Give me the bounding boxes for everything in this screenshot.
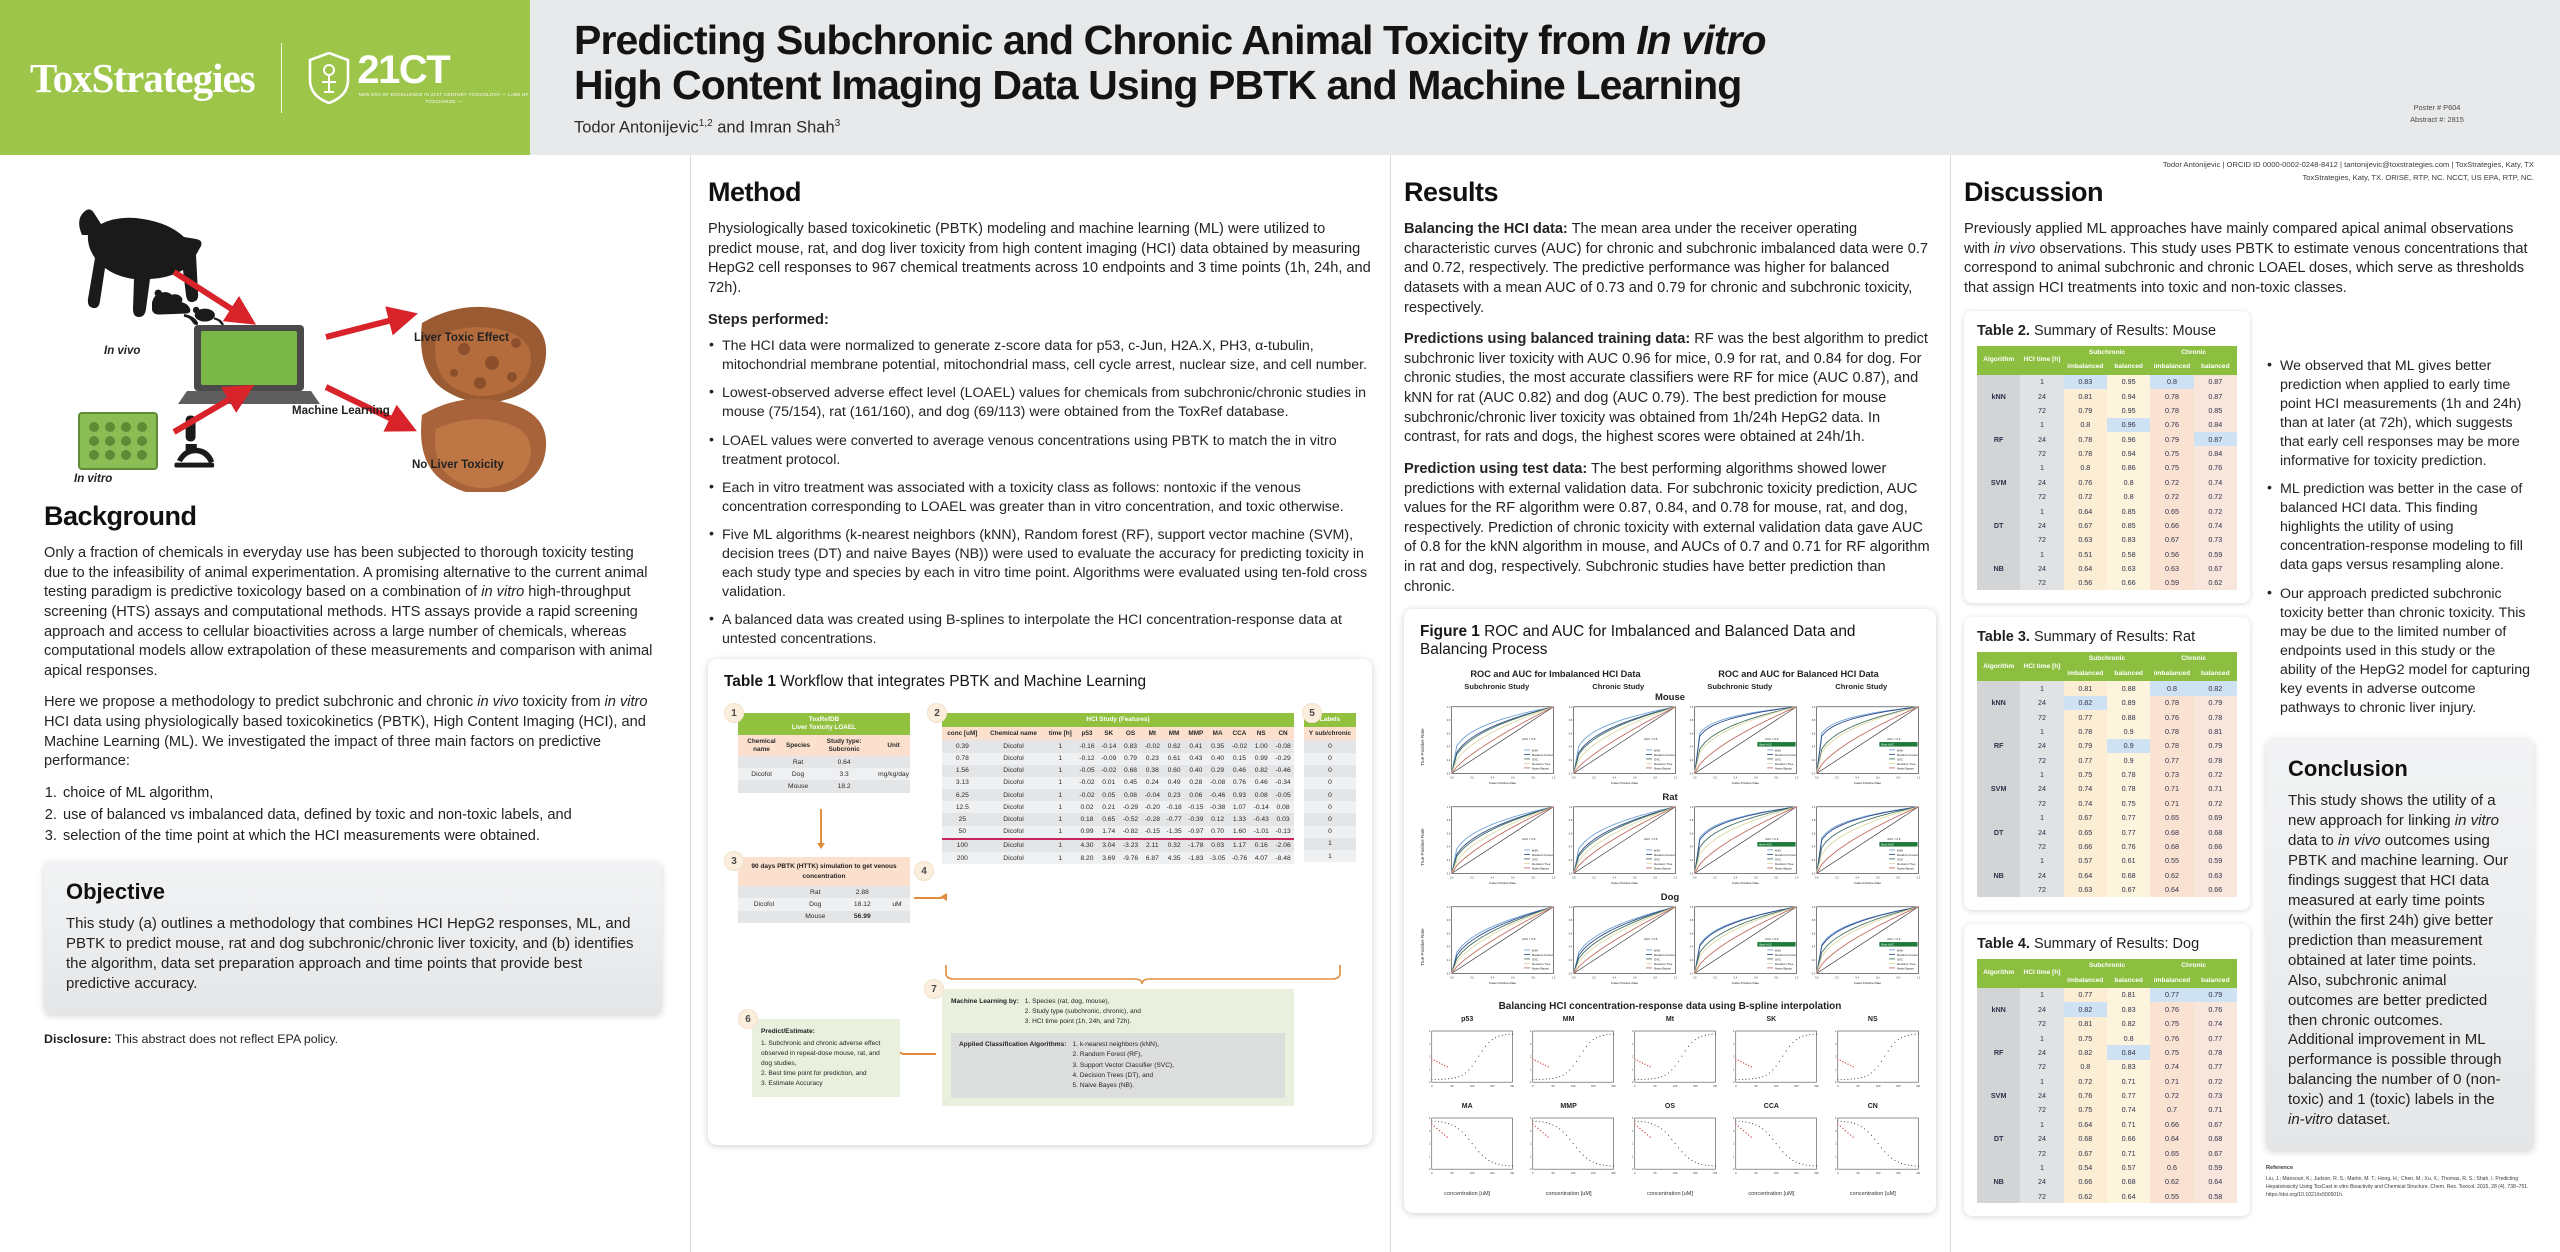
table-row: Rat0.64	[738, 756, 910, 768]
value-cell: 0.84	[2194, 446, 2237, 460]
value-cell: 0.79	[2194, 988, 2237, 1002]
results-label-2: Predictions using balanced training data…	[1404, 331, 1690, 347]
svg-text:0.0: 0.0	[1814, 777, 1818, 780]
cell: -2.06	[1272, 839, 1294, 852]
value-cell: 0.62	[2150, 868, 2193, 882]
col-header: MA	[1207, 727, 1229, 740]
list-item: selection of the time point at which the…	[61, 827, 662, 847]
cell: 0.64	[811, 756, 877, 768]
col-header: Mt	[1141, 727, 1163, 740]
hci-features-table: HCI Study (Features) conc [uM]Chemical n…	[942, 713, 1294, 864]
value-cell: 0.77	[2194, 1031, 2237, 1045]
value-cell: 0.66	[2150, 1117, 2193, 1131]
svg-text:0.6: 0.6	[1754, 777, 1758, 780]
timepoint-cell: 72	[2020, 710, 2063, 724]
predict-green-box: Predict/Estimate: 1. Subchronic and chro…	[752, 1019, 900, 1096]
spline-panel-label: MM	[1521, 1016, 1615, 1023]
svg-text:1.0: 1.0	[1673, 877, 1677, 880]
table-row: 0	[1304, 813, 1356, 825]
svg-text:1.0: 1.0	[1811, 706, 1815, 709]
cell: -0.18	[1163, 801, 1185, 813]
cell: 0	[1304, 813, 1356, 825]
svg-text:Naive Bayes: Naive Bayes	[1897, 767, 1914, 771]
spline-panel: MA05010015020001234concentration [uM]	[1420, 1103, 1514, 1197]
value-cell: 0.59	[2194, 854, 2237, 868]
col-header: Chronic Study	[1803, 682, 1921, 691]
value-cell: 0.81	[2064, 389, 2107, 403]
svg-text:0: 0	[1429, 1081, 1431, 1084]
svg-text:AUC = 0.9: AUC = 0.9	[1765, 737, 1779, 741]
svg-text:0.4: 0.4	[1568, 746, 1572, 749]
table-row: 12.5Dicofol10.020.21-0.29-0.20-0.18-0.15…	[942, 801, 1294, 813]
value-cell: 0.71	[2194, 782, 2237, 796]
column-divider	[1950, 155, 1951, 1252]
value-cell: 0.76	[2194, 1002, 2237, 1016]
svg-text:0.6: 0.6	[1811, 733, 1815, 736]
results-table: AlgorithmHCI time [h]SubchronicChronicim…	[1977, 346, 2237, 591]
timepoint-cell: 1	[2020, 1031, 2063, 1045]
timepoint-cell: 72	[2020, 446, 2063, 460]
cell: -3.23	[1120, 839, 1142, 852]
svg-text:3: 3	[1835, 1130, 1837, 1133]
roc-plot: kNNRandom ForestSVCDecision TreeNaive Ba…	[1438, 904, 1556, 991]
svg-text:4: 4	[1632, 1030, 1634, 1033]
col-header: HCI time [h]	[2020, 959, 2063, 988]
svg-text:100: 100	[1876, 1084, 1881, 1088]
svg-text:False Positive Rate: False Positive Rate	[1489, 981, 1516, 985]
predict-title: Predict/Estimate:	[761, 1028, 815, 1035]
svg-text:2: 2	[1632, 1143, 1634, 1146]
value-cell: 0.76	[2150, 418, 2193, 432]
cell: Dicofol	[983, 777, 1045, 789]
spline-panel-label: CCA	[1724, 1103, 1818, 1110]
svg-text:0.6: 0.6	[1690, 833, 1694, 836]
discussion-body: Table 2. Summary of Results: MouseAlgori…	[1964, 311, 2534, 1231]
cell: 0.43	[1185, 753, 1207, 765]
value-cell: 0.81	[2107, 988, 2150, 1002]
col-header: HCI time [h]	[2020, 346, 2063, 375]
svg-text:False Positive Rate: False Positive Rate	[1611, 781, 1638, 785]
timepoint-cell: 24	[2020, 1002, 2063, 1016]
svg-text:0.2: 0.2	[1835, 877, 1839, 880]
svg-text:0.0: 0.0	[1811, 773, 1815, 776]
cell: 1	[1044, 777, 1076, 789]
value-cell: 0.55	[2150, 1189, 2193, 1203]
algorithm-cell: kNN	[1977, 375, 2020, 418]
svg-text:0.4: 0.4	[1734, 877, 1738, 880]
svg-text:0: 0	[1431, 1171, 1433, 1175]
svg-text:0.8: 0.8	[1653, 777, 1657, 780]
21ct-logo: 21CT NEW ERA OF EXCELLENCE IN 21ST CENTU…	[308, 50, 530, 105]
svg-text:150: 150	[1693, 1084, 1698, 1088]
value-cell: 0.78	[2150, 389, 2193, 403]
svg-text:Decision Tree: Decision Tree	[1654, 862, 1673, 866]
cell: 1	[1304, 850, 1356, 862]
concl-d: dataset.	[2333, 1111, 2391, 1128]
table-row: 0	[1304, 753, 1356, 765]
svg-text:0.6: 0.6	[1876, 777, 1880, 780]
value-cell: 0.75	[2064, 1103, 2107, 1117]
svg-text:1.0: 1.0	[1916, 777, 1920, 780]
svg-text:AUC = 0.9: AUC = 0.9	[1887, 737, 1901, 741]
value-cell: 0.77	[2194, 1060, 2237, 1074]
author-2-sup: 3	[835, 118, 841, 129]
author-1-sup: 1,2	[699, 118, 713, 129]
value-cell: 0.59	[2194, 547, 2237, 561]
svg-text:0.8: 0.8	[1653, 977, 1657, 980]
svg-text:1.0: 1.0	[1568, 806, 1572, 809]
svg-text:0.4: 0.4	[1447, 846, 1451, 849]
timepoint-cell: 1	[2020, 1160, 2063, 1174]
value-cell: 0.64	[2064, 1117, 2107, 1131]
algorithm-cell: RF	[1977, 1031, 2020, 1074]
cell: -0.77	[1163, 813, 1185, 825]
svg-text:False Positive Rate: False Positive Rate	[1732, 981, 1759, 985]
svg-text:100: 100	[1571, 1084, 1576, 1088]
pbtk-label: 90 days PBTK (HTTK) simulation to get ve…	[738, 857, 910, 886]
value-cell: 0.62	[2064, 1189, 2107, 1203]
algorithm-cell: NB	[1977, 1160, 2020, 1203]
svg-text:0.0: 0.0	[1811, 873, 1815, 876]
roc-plot: kNNRandom ForestSVCDecision TreeNaive Ba…	[1681, 804, 1799, 891]
svg-text:0.4: 0.4	[1690, 946, 1694, 949]
cell	[738, 756, 785, 768]
table-row: RF10.750.80.760.77	[1977, 1031, 2237, 1045]
svg-text:200: 200	[1814, 1171, 1818, 1175]
spline-panel: CN05010015020001234concentration [uM]	[1826, 1103, 1920, 1197]
algorithm-cell: DT	[1977, 504, 2020, 547]
cell: 0.93	[1229, 789, 1251, 801]
cell: -0.08	[1272, 740, 1294, 752]
value-cell: 0.81	[2064, 1017, 2107, 1031]
table-row: Mouse18.2	[738, 780, 910, 792]
step-badge-7: 7	[924, 979, 944, 999]
timepoint-cell: 1	[2020, 724, 2063, 738]
arrow-right-icon	[940, 893, 947, 901]
ml-item: 1. Species (rat, dog, mouse),	[1025, 997, 1141, 1007]
value-cell: 0.65	[2150, 811, 2193, 825]
value-cell: 0.8	[2107, 475, 2150, 489]
cell: 0.23	[1141, 753, 1163, 765]
table-row: DT10.640.850.650.72	[1977, 504, 2237, 518]
cell: 0.08	[1272, 801, 1294, 813]
value-cell: 0.74	[2107, 1103, 2150, 1117]
cell: 0.05	[1098, 789, 1120, 801]
value-cell: 0.76	[2150, 1002, 2193, 1016]
value-cell: 0.64	[2194, 1175, 2237, 1189]
value-cell: 0.72	[2194, 504, 2237, 518]
value-cell: 0.79	[2194, 696, 2237, 710]
cell: 0.18	[1076, 813, 1098, 825]
predict-box: Predict/Estimate: 1. Subchronic and chro…	[752, 1019, 900, 1096]
col-header: Algorithm	[1977, 346, 2020, 375]
svg-text:3: 3	[1429, 1130, 1431, 1133]
x-axis-label: concentration [uM]	[1623, 1191, 1717, 1197]
value-cell: 0.58	[2194, 1189, 2237, 1203]
svg-text:200: 200	[1612, 1084, 1616, 1088]
svg-text:0.0: 0.0	[1450, 777, 1454, 780]
value-cell: 0.74	[2194, 518, 2237, 532]
col-header: Subchronic Study	[1438, 682, 1556, 691]
cell: 0.46	[1229, 765, 1251, 777]
cell: -0.14	[1098, 740, 1120, 752]
list-item: use of balanced vs imbalanced data, defi…	[61, 806, 662, 826]
table-row: 0	[1304, 789, 1356, 801]
col-header: balanced	[2194, 360, 2237, 375]
title-line2: High Content Imaging Data Using PBTK and…	[574, 62, 1741, 108]
svg-text:0.4: 0.4	[1491, 877, 1495, 880]
value-cell: 0.89	[2107, 696, 2150, 710]
list-item: Lowest-observed adverse effect level (LO…	[708, 384, 1372, 422]
value-cell: 0.77	[2064, 988, 2107, 1002]
svg-text:kNN: kNN	[1897, 849, 1903, 853]
column-divider	[690, 155, 691, 1252]
svg-text:Naive Bayes: Naive Bayes	[1775, 867, 1792, 871]
bg-p1-em: in vitro	[481, 584, 524, 600]
svg-text:0.2: 0.2	[1568, 959, 1572, 962]
svg-text:Random Forest: Random Forest	[1532, 853, 1553, 857]
svg-text:2: 2	[1835, 1143, 1837, 1146]
result-table-title: Table 4. Summary of Results: Dog	[1977, 936, 2237, 952]
svg-text:4: 4	[1530, 1117, 1532, 1120]
results-table: AlgorithmHCI time [h]SubchronicChronicim…	[1977, 652, 2237, 897]
value-cell: 0.66	[2107, 576, 2150, 590]
svg-text:kNN: kNN	[1532, 849, 1538, 853]
label-liver-toxic: Liver Toxic Effect	[414, 332, 509, 344]
roc-plot: kNNRandom ForestSVCDecision TreeNaive Ba…	[1560, 704, 1678, 791]
cell: 1	[1304, 838, 1356, 850]
value-cell: 0.7	[2150, 1103, 2193, 1117]
value-cell: 0.55	[2150, 854, 2193, 868]
species-label: Rat	[1420, 792, 1920, 803]
svg-text:0.0: 0.0	[1693, 977, 1697, 980]
value-cell: 0.78	[2150, 696, 2193, 710]
table-row: NB10.540.570.60.59	[1977, 1160, 2237, 1174]
svg-text:0.8: 0.8	[1568, 919, 1572, 922]
value-cell: 0.77	[2150, 988, 2193, 1002]
cell: 1	[1044, 753, 1076, 765]
svg-text:0.4: 0.4	[1612, 877, 1616, 880]
poster-number: Poster # P604	[2342, 102, 2532, 114]
svg-text:0: 0	[1530, 1168, 1532, 1171]
cell: Mouse	[790, 911, 841, 923]
list-item: We observed that ML gives better predict…	[2266, 357, 2534, 472]
svg-text:0.8: 0.8	[1774, 977, 1778, 980]
value-cell: 0.85	[2107, 504, 2150, 518]
svg-text:0.6: 0.6	[1633, 877, 1637, 880]
svg-text:1.0: 1.0	[1690, 706, 1694, 709]
svg-text:0.6: 0.6	[1511, 777, 1515, 780]
timepoint-cell: 72	[2020, 839, 2063, 853]
svg-text:100: 100	[1673, 1084, 1678, 1088]
value-cell: 0.63	[2064, 882, 2107, 896]
value-cell: 0.64	[2064, 504, 2107, 518]
result-table-title: Table 2. Summary of Results: Mouse	[1977, 323, 2237, 339]
col-header: MM	[1163, 727, 1185, 740]
21ct-text: 21CT	[357, 50, 530, 90]
value-cell: 0.72	[2064, 490, 2107, 504]
value-cell: 0.74	[2194, 475, 2237, 489]
roc-plot: kNNRandom ForestSVCDecision TreeNaive Ba…	[1438, 704, 1556, 791]
svg-text:0.2: 0.2	[1811, 759, 1815, 762]
svg-text:200: 200	[1612, 1171, 1616, 1175]
microplate-icon	[79, 413, 157, 469]
timepoint-cell: 1	[2020, 811, 2063, 825]
table-row: DicofolDog18.12uM	[738, 898, 910, 910]
predict-item: 3. Estimate Accuracy	[761, 1079, 891, 1089]
svg-text:AUC = 0.9: AUC = 0.9	[1765, 937, 1779, 941]
cell: Dicofol	[983, 839, 1045, 852]
poster-columns: In vivo Machine Learning In vitro Liver …	[0, 155, 2560, 1252]
column-results: Results Balancing the HCI data: The mean…	[1390, 155, 1950, 1252]
svg-text:3: 3	[1733, 1043, 1735, 1046]
cell: 0.21	[1098, 801, 1120, 813]
value-cell: 0.75	[2064, 1031, 2107, 1045]
cell: 1.56	[942, 765, 983, 777]
value-cell: 0.83	[2107, 1060, 2150, 1074]
roc-plot-grid: MouseTrue Positive RatekNNRandom ForestS…	[1420, 692, 1920, 991]
value-cell: 0.95	[2107, 403, 2150, 417]
cell: -8.48	[1272, 852, 1294, 864]
value-cell: 0.68	[2107, 868, 2150, 882]
col-header: HCI time [h]	[2020, 652, 2063, 681]
cell: -0.09	[1098, 753, 1120, 765]
col-header: Unit	[877, 735, 910, 756]
svg-text:kNN: kNN	[1532, 749, 1538, 753]
svg-text:1.0: 1.0	[1795, 877, 1799, 880]
cell: 50	[942, 826, 983, 839]
svg-text:100: 100	[1774, 1084, 1779, 1088]
value-cell: 0.68	[2107, 1175, 2150, 1189]
x-axis-label: concentration [uM]	[1521, 1191, 1615, 1197]
cell: 1	[1044, 789, 1076, 801]
algorithm-cell: SVM	[1977, 767, 2020, 810]
svg-text:0.0: 0.0	[1571, 877, 1575, 880]
cell: 3.13	[942, 777, 983, 789]
column-discussion: Discussion Previously applied ML approac…	[1950, 155, 2560, 1252]
svg-text:0.4: 0.4	[1855, 777, 1859, 780]
col-header: balanced	[2107, 360, 2150, 375]
value-cell: 0.68	[2150, 825, 2193, 839]
svg-text:Best AUC: Best AUC	[1881, 843, 1894, 847]
svg-text:0.2: 0.2	[1690, 859, 1694, 862]
svg-text:1.0: 1.0	[1916, 977, 1920, 980]
dog-silhouette	[79, 209, 201, 317]
svg-text:AUC = 0.9: AUC = 0.9	[1887, 837, 1901, 841]
svg-text:50: 50	[1552, 1171, 1555, 1175]
roc-row: True Positive RatekNNRandom ForestSVCDec…	[1420, 704, 1920, 791]
col-header: imbalanced	[2064, 360, 2107, 375]
cell: 0.08	[1250, 789, 1272, 801]
timepoint-cell: 1	[2020, 418, 2063, 432]
value-cell: 0.63	[2194, 868, 2237, 882]
table-row: DT10.640.710.660.67	[1977, 1117, 2237, 1131]
cell: 0	[1304, 765, 1356, 777]
value-cell: 0.87	[2194, 389, 2237, 403]
cell	[884, 886, 910, 898]
spline-panel-label: p53	[1420, 1016, 1514, 1023]
timepoint-cell: 24	[2020, 782, 2063, 796]
svg-text:0.6: 0.6	[1568, 833, 1572, 836]
roc-col-headers: Subchronic Study Chronic Study Subchroni…	[1420, 682, 1920, 691]
cell	[738, 886, 790, 898]
cell: Dog	[790, 898, 841, 910]
logo-divider	[281, 43, 283, 113]
table-row: 0	[1304, 826, 1356, 838]
timepoint-cell: 24	[2020, 1132, 2063, 1146]
cell: -0.39	[1185, 813, 1207, 825]
timepoint-cell: 1	[2020, 375, 2063, 389]
cell: -0.76	[1229, 852, 1251, 864]
svg-text:0.8: 0.8	[1447, 819, 1451, 822]
svg-text:0.6: 0.6	[1811, 933, 1815, 936]
value-cell: 0.71	[2150, 796, 2193, 810]
svg-text:SVC: SVC	[1654, 858, 1661, 862]
table-row: 0.78Dicofol1-0.12-0.090.790.230.610.430.…	[942, 753, 1294, 765]
ml-green-box: Machine Learning by: 1. Species (rat, do…	[942, 989, 1294, 1106]
cell: 1	[1044, 801, 1076, 813]
value-cell: 0.57	[2064, 854, 2107, 868]
timepoint-cell: 24	[2020, 868, 2063, 882]
svg-text:0: 0	[1431, 1084, 1433, 1088]
cell: 0.08	[1120, 789, 1142, 801]
svg-text:Decision Tree: Decision Tree	[1654, 762, 1673, 766]
concl-em2: in vivo	[2338, 832, 2381, 849]
col-header: balanced	[2107, 667, 2150, 682]
step-badge-4: 4	[914, 861, 934, 881]
svg-text:3: 3	[1429, 1043, 1431, 1046]
svg-text:1: 1	[1835, 1156, 1837, 1159]
svg-text:0.6: 0.6	[1511, 877, 1515, 880]
label-in-vitro: In vitro	[74, 473, 112, 485]
value-cell: 0.61	[2107, 854, 2150, 868]
svg-text:4: 4	[1429, 1117, 1431, 1120]
bg-p2-em2: in vitro	[605, 694, 648, 710]
svg-text:0.2: 0.2	[1835, 977, 1839, 980]
cell: 0.61	[1163, 753, 1185, 765]
results-label-3: Prediction using test data:	[1404, 461, 1587, 477]
cell: -0.16	[1076, 740, 1098, 752]
svg-text:100: 100	[1470, 1084, 1475, 1088]
list-item: The HCI data were normalized to generate…	[708, 337, 1372, 375]
cell: 1	[1044, 852, 1076, 864]
discussion-bullets: We observed that ML gives better predict…	[2266, 357, 2534, 719]
table-row: 0	[1304, 801, 1356, 813]
svg-text:0.2: 0.2	[1713, 877, 1717, 880]
col-header: imbalanced	[2150, 973, 2193, 988]
results-paragraph-3: Prediction using test data: The best per…	[1404, 460, 1936, 597]
svg-text:Random Forest: Random Forest	[1532, 753, 1553, 757]
cell: -0.46	[1207, 789, 1229, 801]
svg-text:1: 1	[1530, 1156, 1532, 1159]
value-cell: 0.72	[2194, 1074, 2237, 1088]
svg-text:1: 1	[1429, 1156, 1431, 1159]
svg-text:SVC: SVC	[1532, 858, 1539, 862]
brace-icon	[944, 963, 1344, 985]
table-row: 0	[1304, 777, 1356, 789]
svg-text:0.2: 0.2	[1811, 859, 1815, 862]
timepoint-cell: 24	[2020, 475, 2063, 489]
result-table-card: Table 4. Summary of Results: DogAlgorith…	[1964, 924, 2250, 1217]
cell: -0.05	[1272, 789, 1294, 801]
svg-text:SVC: SVC	[1897, 758, 1904, 762]
list-item: Five ML algorithms (k-nearest neighbors …	[708, 526, 1372, 602]
svg-text:0.8: 0.8	[1896, 777, 1900, 780]
cell: Dicofol	[983, 801, 1045, 813]
svg-text:0.6: 0.6	[1447, 933, 1451, 936]
svg-text:0.2: 0.2	[1592, 977, 1596, 980]
svg-text:0.4: 0.4	[1855, 977, 1859, 980]
